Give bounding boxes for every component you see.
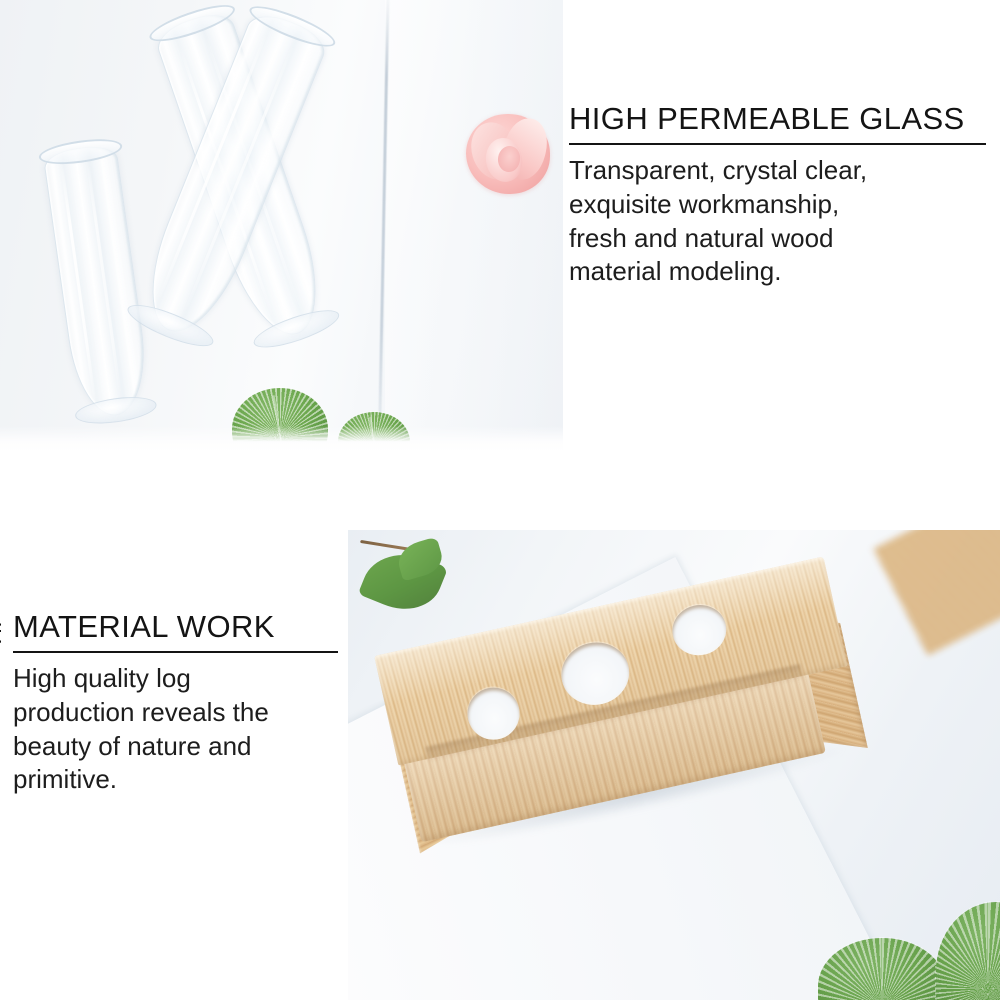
glass-heading-rule bbox=[569, 143, 986, 146]
material-body-line: High quality log bbox=[13, 662, 343, 696]
glass-body-line: Transparent, crystal clear, bbox=[569, 154, 989, 188]
green-leaf-serrated-right bbox=[936, 902, 1000, 1000]
leaf-serrated-edge bbox=[935, 901, 1000, 1000]
material-body-text: High quality log production reveals the … bbox=[13, 662, 343, 797]
material-text-block: MATERIAL WORK High quality log productio… bbox=[13, 611, 343, 797]
glass-body-line: fresh and natural wood bbox=[569, 222, 989, 256]
material-heading-rule bbox=[13, 651, 338, 654]
glass-body-text: Transparent, crystal clear, exquisite wo… bbox=[569, 154, 989, 289]
material-heading: MATERIAL WORK bbox=[13, 611, 343, 644]
photo-background-panel bbox=[385, 0, 563, 452]
infographic-canvas: HIGH PERMEABLE GLASS Transparent, crysta… bbox=[0, 0, 1000, 1000]
glass-test-tubes-photo bbox=[0, 0, 563, 452]
tube-body bbox=[42, 143, 153, 421]
material-body-line: production reveals the bbox=[13, 696, 343, 730]
test-tube-left bbox=[42, 143, 151, 418]
tube-base bbox=[73, 393, 158, 428]
green-leaf-curved bbox=[360, 538, 456, 622]
wooden-rack-photo bbox=[348, 530, 1000, 1000]
photo-bottom-fade bbox=[0, 426, 563, 452]
glass-body-line: exquisite workmanship, bbox=[569, 188, 989, 222]
glass-heading: HIGH PERMEABLE GLASS bbox=[569, 103, 989, 136]
glass-body-line: material modeling. bbox=[569, 255, 989, 289]
pink-rose-flower bbox=[466, 112, 550, 196]
glass-text-block: HIGH PERMEABLE GLASS Transparent, crysta… bbox=[569, 103, 989, 289]
material-body-line: beauty of nature and bbox=[13, 730, 343, 764]
material-body-line: primitive. bbox=[13, 763, 343, 797]
blurred-wood-slab bbox=[873, 530, 1000, 656]
cropped-glyph-fragment: 試 bbox=[0, 608, 1, 652]
